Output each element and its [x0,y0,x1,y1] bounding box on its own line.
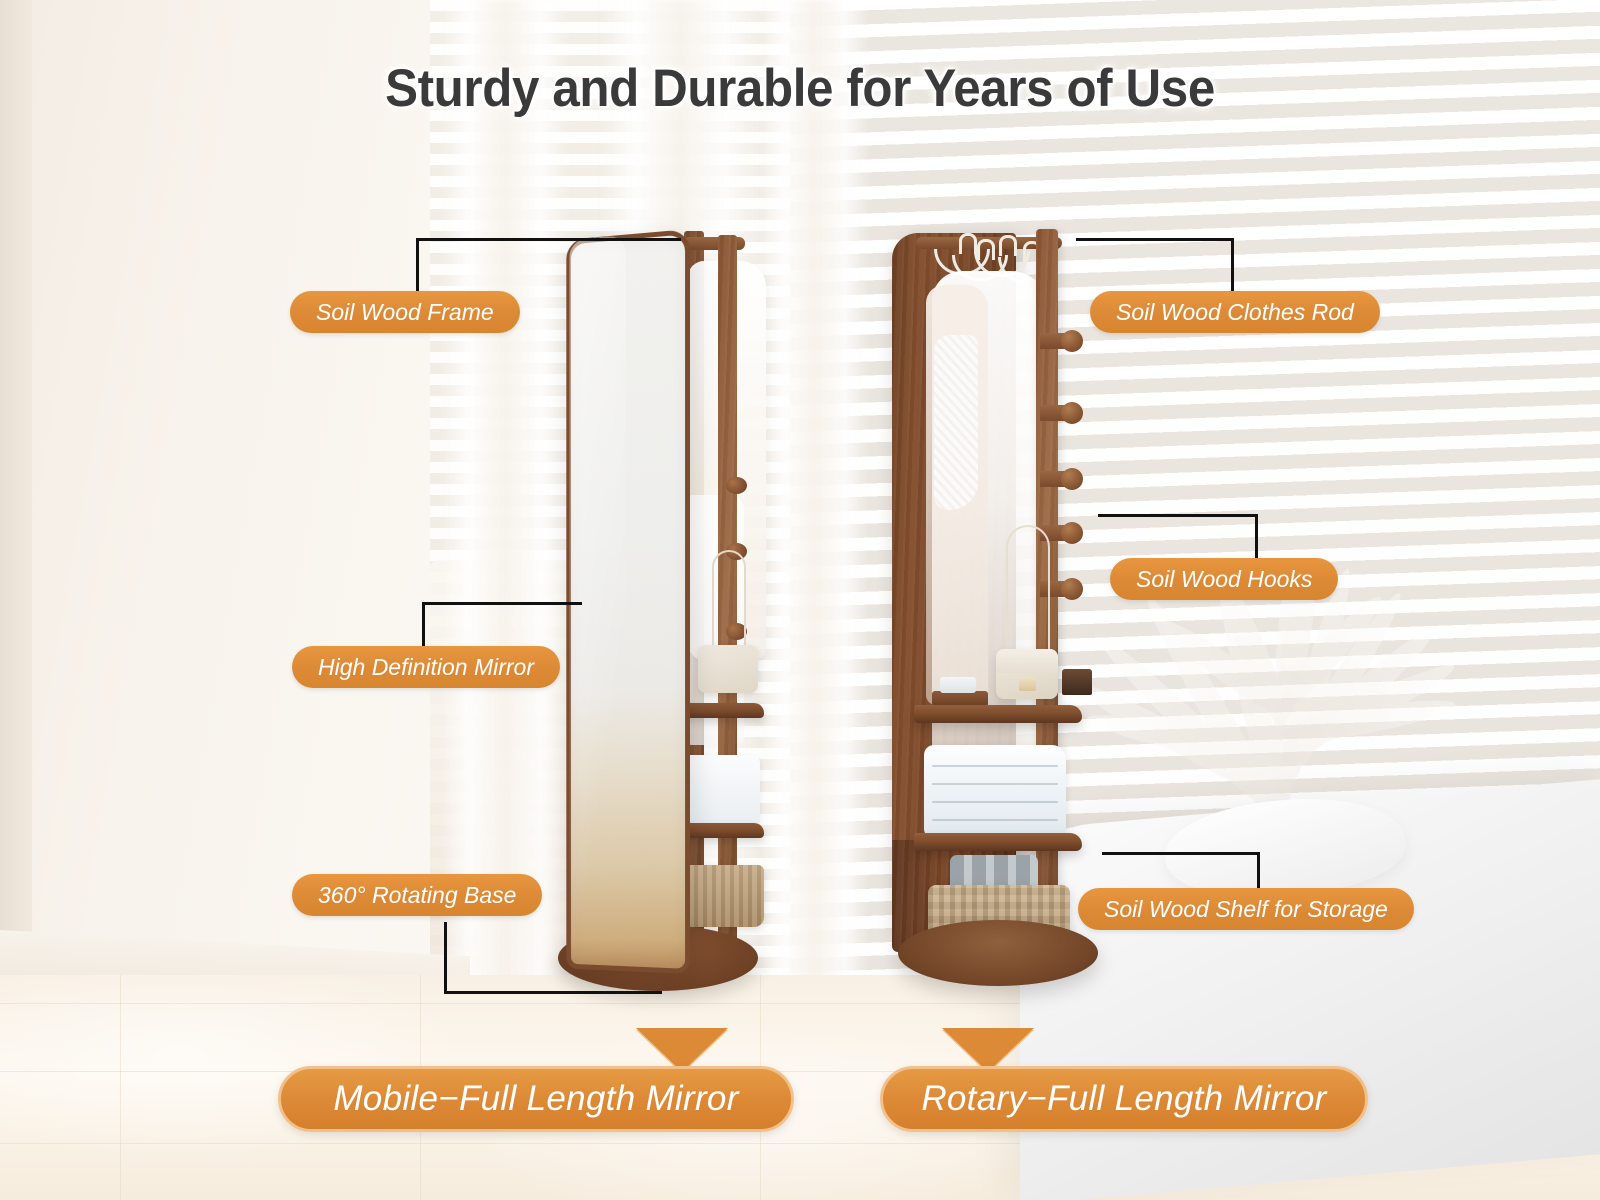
leader-line-base-v [444,922,447,994]
towel-fold-line [932,783,1058,785]
wall-corner [0,0,32,1030]
towel-fold-line [932,819,1058,821]
page-title: Sturdy and Durable for Years of Use [56,58,1544,119]
left-hook-1 [726,477,747,494]
right-tray-item [940,677,976,693]
callout-label: 360° Rotating Base [318,882,516,909]
callout-rotating-base[interactable]: 360° Rotating Base [292,874,542,916]
right-handbag-clasp [1019,677,1036,691]
infographic-canvas: Sturdy and Durable for Years of Use [0,0,1600,1200]
right-hook-1 [1040,333,1074,349]
leader-line-shelf-h [1102,852,1260,855]
right-upper-shelf [914,705,1082,723]
leader-line-mirror-h [422,602,582,605]
callout-soil-wood-clothes-rod[interactable]: Soil Wood Clothes Rod [1090,291,1380,333]
callout-label: High Definition Mirror [318,654,534,681]
right-hook-2 [1040,405,1074,421]
left-handbag-strap [712,550,746,650]
callout-label: Soil Wood Hooks [1136,566,1312,593]
banner-label: Mobile−Full Length Mirror [278,1066,794,1132]
banner-rotary-full-length-mirror[interactable]: Rotary−Full Length Mirror [880,1028,1368,1138]
right-rotating-base [898,920,1098,986]
right-handbag-flap [996,649,1058,673]
leader-line-frame-v [416,238,419,294]
left-mirror-gloss [569,235,626,965]
callout-high-definition-mirror[interactable]: High Definition Mirror [292,646,560,688]
right-handbag-strap [1006,525,1050,653]
towel-fold-line [932,765,1058,767]
callout-label: Soil Wood Shelf for Storage [1104,896,1388,923]
callout-soil-wood-shelf-for-storage[interactable]: Soil Wood Shelf for Storage [1078,888,1414,930]
left-handbag [698,645,758,693]
right-lower-shelf [914,833,1082,851]
leader-line-hooks-v [1255,514,1258,564]
banner-mobile-full-length-mirror[interactable]: Mobile−Full Length Mirror [278,1028,794,1138]
wall-left [0,0,470,1010]
right-folded-towels [924,745,1066,837]
callout-label: Soil Wood Clothes Rod [1116,299,1354,326]
right-lace-sleeve [934,335,978,510]
banner-label: Rotary−Full Length Mirror [880,1066,1368,1132]
callout-label: Soil Wood Frame [316,299,494,326]
leader-line-rod-v [1231,238,1234,294]
product-mobile-full-length-mirror [540,225,830,1000]
leader-line-hooks-h [1098,514,1258,517]
leader-line-mirror-v [422,602,425,648]
right-bottles [1062,669,1092,695]
product-rotary-full-length-mirror [888,225,1108,1000]
leader-line-rod-h [1076,238,1234,241]
towel-fold-line [932,801,1058,803]
floor-seam-vertical [120,975,121,1200]
right-hook-3 [1040,471,1074,487]
callout-soil-wood-frame[interactable]: Soil Wood Frame [290,291,520,333]
leader-line-frame-h [416,238,681,241]
leader-line-base-h [444,991,662,994]
callout-soil-wood-hooks[interactable]: Soil Wood Hooks [1110,558,1338,600]
